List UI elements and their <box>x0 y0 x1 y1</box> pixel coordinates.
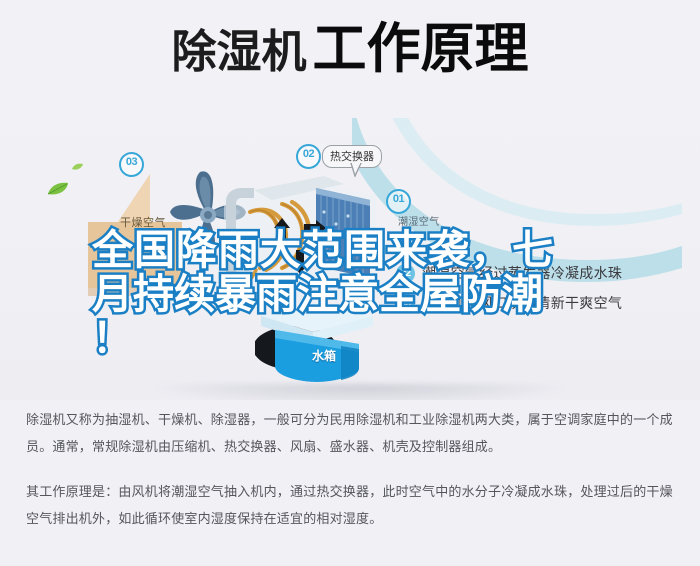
infographic-image: 除湿机工作原理 干燥空气 <box>0 0 700 400</box>
article-body: 除湿机又称为抽湿机、干燥机、除湿器，一般可分为民用除湿机和工业除湿机两大类，属于… <box>0 406 700 532</box>
legend-list: 02 潮湿空气经过蒸发器冷凝成水珠 03 从上部出风口吹出清新干爽空气 <box>396 258 696 318</box>
legend-label: 潮湿空气经过蒸发器冷凝成水珠 <box>422 263 622 283</box>
leaf-icon <box>47 182 69 196</box>
legend-badge: 02 <box>396 264 415 283</box>
humid-air-label: 潮湿空气 <box>398 213 440 228</box>
water-tank <box>255 296 385 382</box>
paragraph-2: 其工作原理是：由风机将潮湿空气抽入机内，通过热交换器，此时空气中的水分子冷凝成水… <box>26 478 674 532</box>
title-secondary: 工作原理 <box>313 19 529 79</box>
dry-air-label: 干燥空气 <box>120 214 166 230</box>
legend-badge: 03 <box>396 294 415 313</box>
diagram-marker-01: 01 <box>386 189 411 214</box>
list-item: 03 从上部出风口吹出清新干爽空气 <box>396 288 696 318</box>
callout-tail <box>350 163 362 177</box>
title-primary: 除湿机 <box>171 26 306 77</box>
diagram-marker-03: 03 <box>119 152 144 177</box>
paragraph-1: 除湿机又称为抽湿机、干燥机、除湿器，一般可分为民用除湿机和工业除湿机两大类，属于… <box>26 406 674 460</box>
diagram-marker-02: 02 <box>296 144 321 169</box>
image-bottom-shadow <box>150 384 570 400</box>
page-title: 除湿机工作原理 <box>0 22 700 76</box>
water-tank-label: 水箱 <box>312 347 336 364</box>
legend-label: 从上部出风口吹出清新干爽空气 <box>422 293 622 313</box>
page-root: 除湿机工作原理 干燥空气 <box>0 0 700 566</box>
dehumidifier-machine <box>220 166 380 316</box>
list-item: 02 潮湿空气经过蒸发器冷凝成水珠 <box>396 258 696 288</box>
